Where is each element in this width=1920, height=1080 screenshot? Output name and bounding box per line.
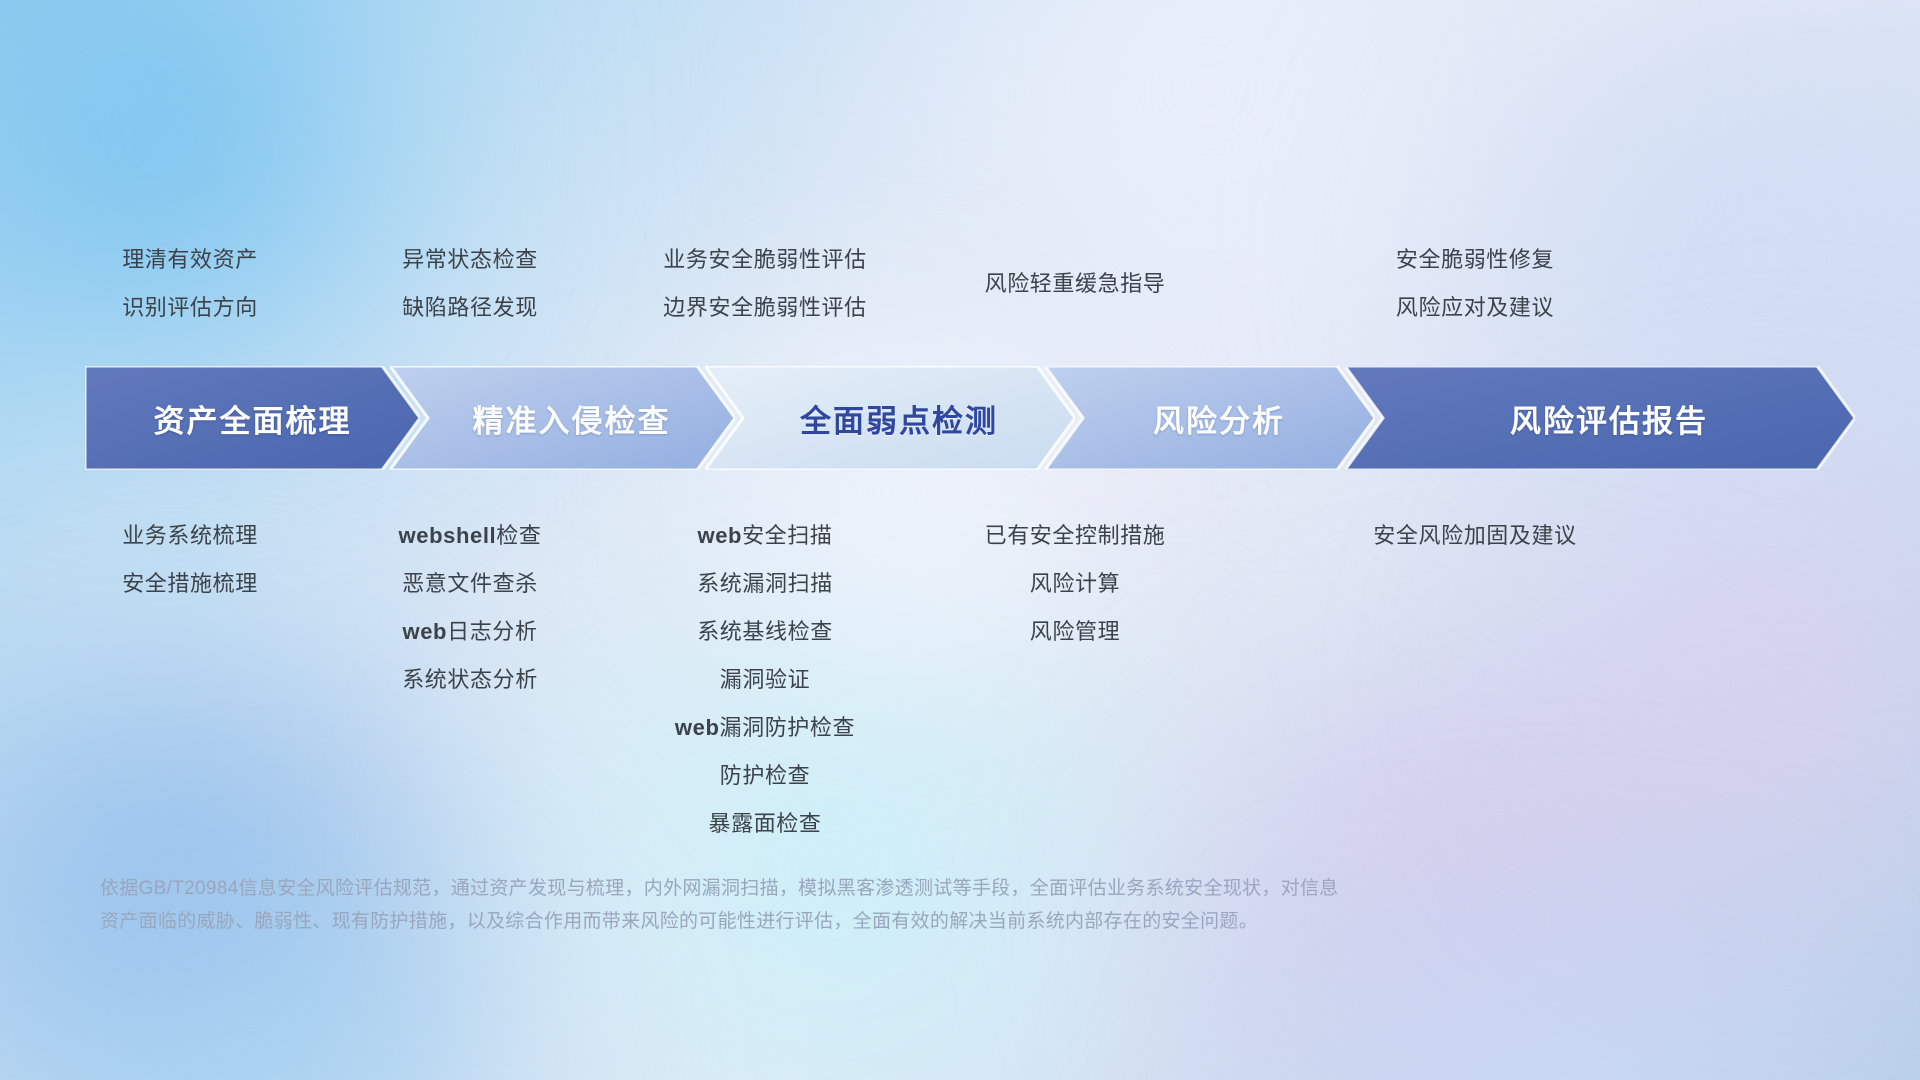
stage-bottom-item: 防护检查 <box>720 752 810 800</box>
stage-bottom-item: 系统基线检查 <box>697 608 833 656</box>
stage-top-column-risk-analysis: 风险轻重缓急指导 <box>985 260 1166 308</box>
chevron-stage-weakness-detection[interactable]: 全面弱点检测 <box>705 366 1075 470</box>
process-diagram: 理清有效资产识别评估方向异常状态检查缺陷路径发现业务安全脆弱性评估边界安全脆弱性… <box>0 0 1920 1080</box>
stage-top-item: 风险轻重缓急指导 <box>985 260 1166 308</box>
stage-bottom-item: web安全扫描 <box>697 512 832 560</box>
stage-bottom-column-risk-analysis: 已有安全控制措施风险计算风险管理 <box>985 512 1166 656</box>
footer-line-1: 依据GB/T20984信息安全风险评估规范，通过资产发现与梳理，内外网漏洞扫描，… <box>100 872 1660 905</box>
stage-top-item: 边界安全脆弱性评估 <box>663 284 866 332</box>
stage-top-item: 业务安全脆弱性评估 <box>663 236 866 284</box>
chevron-stage-intrusion-check[interactable]: 精准入侵检查 <box>390 366 735 470</box>
stage-bottom-item: webshell检查 <box>399 512 542 560</box>
stage-top-item: 安全脆弱性修复 <box>1396 236 1554 284</box>
stage-top-column-weakness-detection: 业务安全脆弱性评估边界安全脆弱性评估 <box>663 236 866 332</box>
stage-bottom-item: 风险计算 <box>1030 560 1120 608</box>
stage-top-column-intrusion-check: 异常状态检查缺陷路径发现 <box>402 236 538 332</box>
chevron-label: 全面弱点检测 <box>800 396 998 441</box>
stage-bottom-item: 恶意文件查杀 <box>402 560 538 608</box>
chevron-stage-risk-analysis[interactable]: 风险分析 <box>1045 366 1375 470</box>
chevron-label: 风险分析 <box>1153 396 1285 441</box>
footer-description: 依据GB/T20984信息安全风险评估规范，通过资产发现与梳理，内外网漏洞扫描，… <box>100 872 1660 938</box>
stage-bottom-item: 业务系统梳理 <box>122 512 258 560</box>
stage-bottom-column-risk-report: 安全风险加固及建议 <box>1373 512 1576 560</box>
stage-bottom-column-intrusion-check: webshell检查恶意文件查杀web日志分析系统状态分析 <box>399 512 542 704</box>
chevron-label: 风险评估报告 <box>1510 396 1708 441</box>
footer-line-2: 资产面临的威胁、脆弱性、现有防护措施，以及综合作用而带来风险的可能性进行评估，全… <box>100 905 1660 938</box>
stage-bottom-item: 已有安全控制措施 <box>985 512 1166 560</box>
stage-bottom-item: 安全风险加固及建议 <box>1373 512 1576 560</box>
stage-top-item: 缺陷路径发现 <box>402 284 538 332</box>
stage-bottom-item: 暴露面检查 <box>708 800 821 848</box>
stage-top-column-risk-report: 安全脆弱性修复风险应对及建议 <box>1396 236 1554 332</box>
stage-bottom-column-weakness-detection: web安全扫描系统漏洞扫描系统基线检查漏洞验证web漏洞防护检查防护检查暴露面检… <box>675 512 855 848</box>
chevron-stage-risk-report[interactable]: 风险评估报告 <box>1345 366 1855 470</box>
stage-bottom-item: 漏洞验证 <box>720 656 810 704</box>
stage-top-item: 异常状态检查 <box>402 236 538 284</box>
stage-top-labels: 理清有效资产识别评估方向异常状态检查缺陷路径发现业务安全脆弱性评估边界安全脆弱性… <box>0 236 1920 326</box>
chevron-process-band: 资产全面梳理精准入侵检查全面弱点检测风险分析风险评估报告 <box>85 366 1855 470</box>
stage-top-item: 风险应对及建议 <box>1396 284 1554 332</box>
stage-top-item: 理清有效资产 <box>122 236 258 284</box>
chevron-label: 精准入侵检查 <box>473 396 671 441</box>
stage-top-item: 识别评估方向 <box>122 284 258 332</box>
chevron-stage-asset-inventory[interactable]: 资产全面梳理 <box>85 366 420 470</box>
stage-bottom-column-asset-inventory: 业务系统梳理安全措施梳理 <box>122 512 258 608</box>
stage-bottom-item: 系统漏洞扫描 <box>697 560 833 608</box>
stage-top-column-asset-inventory: 理清有效资产识别评估方向 <box>122 236 258 332</box>
chevron-label: 资产全面梳理 <box>154 396 352 441</box>
stage-bottom-item: web日志分析 <box>403 608 538 656</box>
stage-bottom-item: 安全措施梳理 <box>122 560 258 608</box>
stage-bottom-item: 系统状态分析 <box>402 656 538 704</box>
stage-bottom-item: web漏洞防护检查 <box>675 704 855 752</box>
stage-bottom-item: 风险管理 <box>1030 608 1120 656</box>
